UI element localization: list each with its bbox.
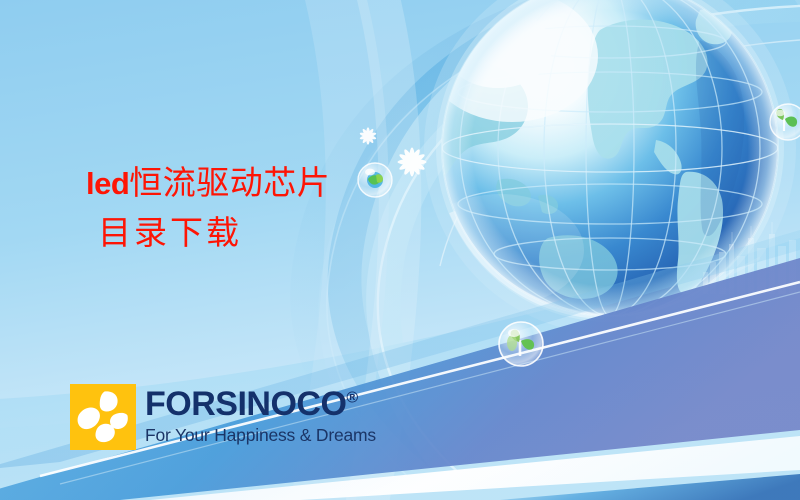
- headline-text: led恒流驱动芯片 目录下载: [86, 163, 330, 254]
- bubble-eco-sprout-icon: [499, 322, 543, 366]
- registered-trademark-symbol: ®: [346, 390, 358, 407]
- headline-line-2: 目录下载: [98, 213, 330, 253]
- logo-tagline: For Your Happiness & Dreams: [145, 427, 376, 445]
- bubble-eco-globe-icon: [358, 163, 392, 197]
- forsinoco-logo: FORSINOCO® For Your Happiness & Dreams: [70, 384, 376, 450]
- headline-latin-prefix: led: [86, 166, 129, 201]
- banner-canvas: led恒流驱动芯片 目录下载 FORSINOCO®: [0, 0, 800, 500]
- forsinoco-pinwheel-mark-icon: [70, 384, 136, 450]
- flower-large-icon: [398, 148, 427, 177]
- bubble-eco-leaf-icon: [770, 104, 800, 140]
- logo-wordmark: FORSINOCO®: [145, 387, 376, 421]
- logo-text-block: FORSINOCO® For Your Happiness & Dreams: [145, 384, 376, 445]
- headline-line-1: led恒流驱动芯片: [86, 163, 330, 203]
- headline-line-1-cjk: 恒流驱动芯片: [129, 163, 330, 202]
- flower-small-icon: [359, 127, 377, 144]
- logo-wordmark-text: FORSINOCO: [145, 385, 346, 423]
